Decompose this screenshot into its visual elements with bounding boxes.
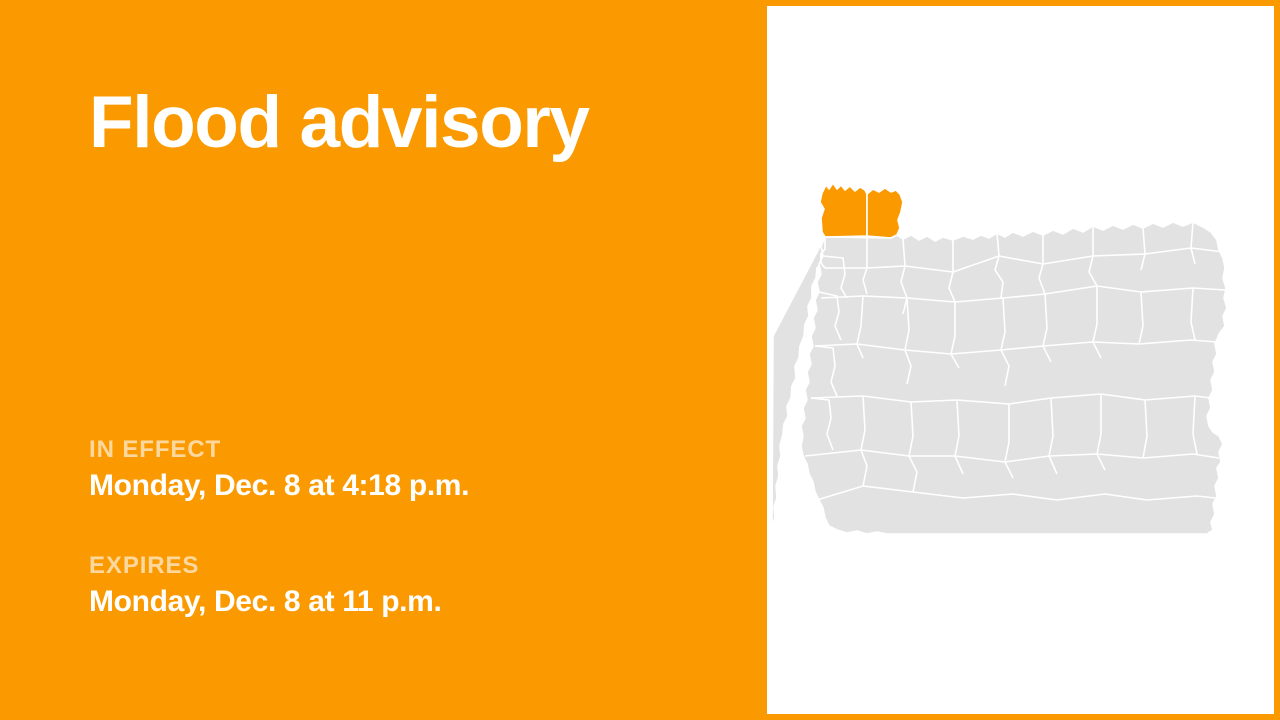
expires-block: EXPIRES Monday, Dec. 8 at 11 p.m.: [89, 552, 729, 619]
alert-info-panel: Flood advisory IN EFFECT Monday, Dec. 8 …: [0, 0, 767, 720]
expires-label: EXPIRES: [89, 552, 729, 580]
weather-alert-card: Flood advisory IN EFFECT Monday, Dec. 8 …: [0, 0, 1280, 720]
map-panel: [767, 6, 1274, 714]
county-columbia: [867, 188, 903, 238]
expires-value: Monday, Dec. 8 at 11 p.m.: [89, 585, 729, 620]
in-effect-label: IN EFFECT: [89, 436, 729, 464]
oregon-map: [767, 6, 1274, 714]
oregon-counties-group: [772, 222, 1227, 534]
alert-title: Flood advisory: [89, 86, 589, 159]
in-effect-block: IN EFFECT Monday, Dec. 8 at 4:18 p.m.: [89, 436, 729, 503]
in-effect-value: Monday, Dec. 8 at 4:18 p.m.: [89, 469, 729, 504]
county-clatsop: [820, 183, 867, 237]
alerted-counties-group: [820, 183, 903, 238]
